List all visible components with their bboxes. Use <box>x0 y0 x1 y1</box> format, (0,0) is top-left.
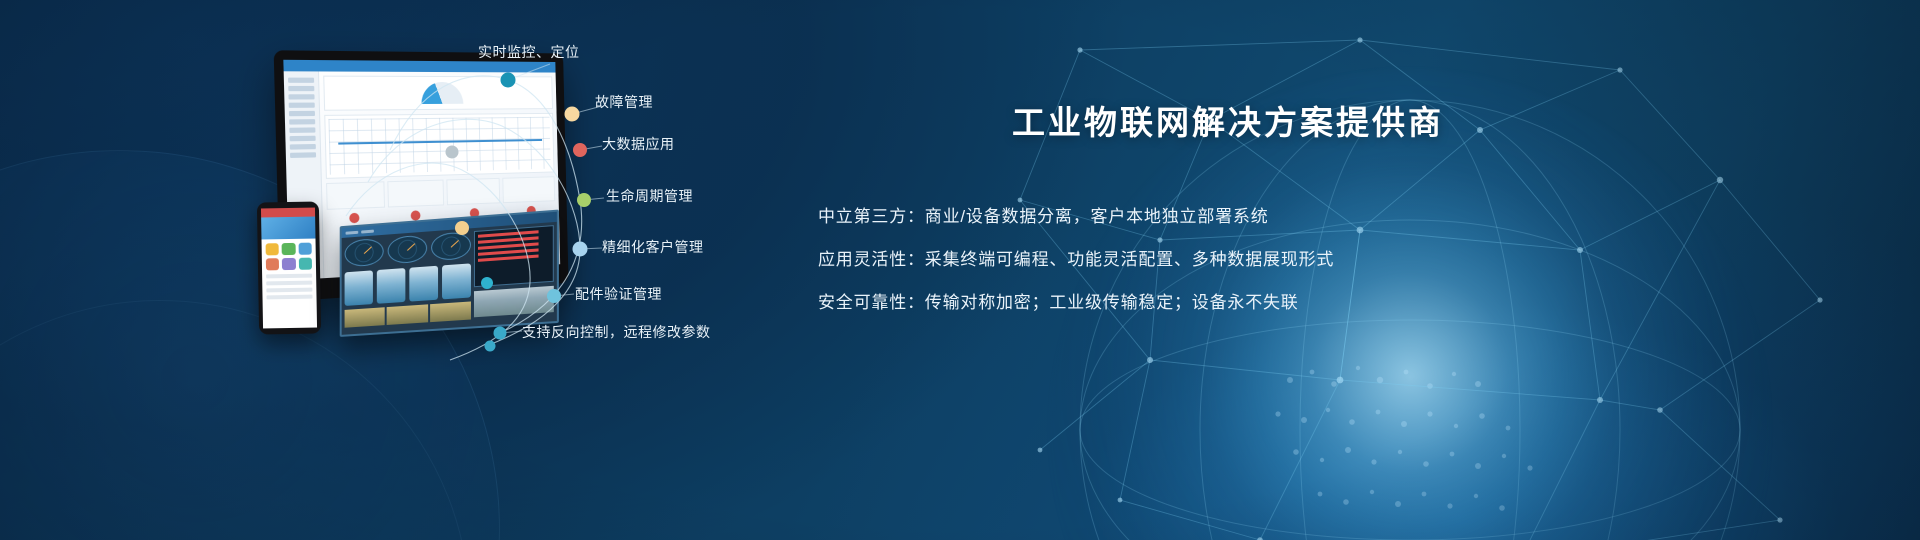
feature-node-dot-1[interactable] <box>565 107 580 122</box>
arc-node-inner <box>481 277 493 289</box>
feature-node-label-0: 实时监控、定位 <box>478 42 580 62</box>
feature-node-dot-5[interactable] <box>547 289 561 303</box>
feature-node-dot-0[interactable] <box>501 73 516 88</box>
banner-bullet-2: 安全可靠性：传输对称加密；工业级传输稳定；设备永不失联 <box>818 288 1818 313</box>
arc-node-inner <box>485 341 496 352</box>
feature-node-label-5: 配件验证管理 <box>575 284 662 304</box>
banner-bullet-1: 应用灵活性：采集终端可编程、功能灵活配置、多种数据展现形式 <box>818 245 1818 270</box>
banner-bullet-0: 中立第三方：商业/设备数据分离，客户本地独立部署系统 <box>818 202 1818 227</box>
feature-node-label-6: 支持反向控制，远程修改参数 <box>522 322 711 342</box>
banner-copy: 工业物联网解决方案提供商 中立第三方：商业/设备数据分离，客户本地独立部署系统 … <box>818 96 1818 331</box>
feature-node-label-4: 精细化客户管理 <box>602 237 704 257</box>
feature-node-dot-3[interactable] <box>577 193 591 207</box>
feature-node-label-2: 大数据应用 <box>602 134 675 154</box>
feature-node-dot-4[interactable] <box>573 242 588 257</box>
arc-node-inner <box>455 221 469 235</box>
feature-node-dot-6[interactable] <box>494 327 507 340</box>
feature-node-label-1: 故障管理 <box>595 92 653 112</box>
feature-node-label-3: 生命周期管理 <box>606 186 693 206</box>
banner-headline: 工业物联网解决方案提供商 <box>958 96 1498 144</box>
arc-node-inner <box>446 146 459 159</box>
feature-node-dot-2[interactable] <box>573 143 587 157</box>
feature-arc-diagram: 实时监控、定位 故障管理 大数据应用 生命周期管理 精细化客户管理 配件验证管理… <box>250 30 770 370</box>
banner-bullet-list: 中立第三方：商业/设备数据分离，客户本地独立部署系统 应用灵活性：采集终端可编程… <box>818 202 1818 313</box>
